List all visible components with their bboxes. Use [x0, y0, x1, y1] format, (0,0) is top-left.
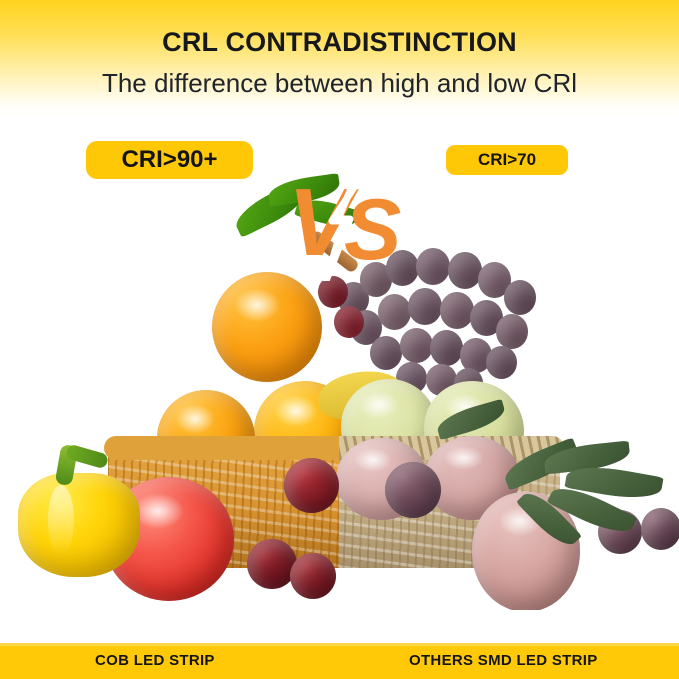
dark-red-grape: [334, 306, 364, 338]
dark-red-grape: [290, 553, 336, 599]
dark-red-grape: [284, 458, 339, 513]
footer-bar-highlight: [0, 643, 679, 646]
svg-text:S: S: [344, 182, 401, 278]
dark-red-grape: [247, 539, 297, 589]
footer-label-left: COB LED STRIP: [95, 652, 215, 669]
page-title: CRL CONTRADISTINCTION: [0, 27, 679, 58]
top-gradient-band: [0, 0, 679, 118]
page-subtitle: The difference between high and low CRl: [0, 68, 679, 99]
product-comparison-image: CRL CONTRADISTINCTION The difference bet…: [0, 0, 679, 679]
footer-label-right: OTHERS SMD LED STRIP: [409, 652, 598, 669]
muted-grape: [385, 462, 441, 518]
footer-bar: COB LED STRIP OTHERS SMD LED STRIP: [0, 643, 679, 679]
orange-fruit: [212, 272, 322, 382]
muted-leaf-cluster: [496, 445, 679, 557]
versus-emblem: V S: [286, 163, 404, 281]
yellow-bell-pepper: [18, 445, 140, 577]
